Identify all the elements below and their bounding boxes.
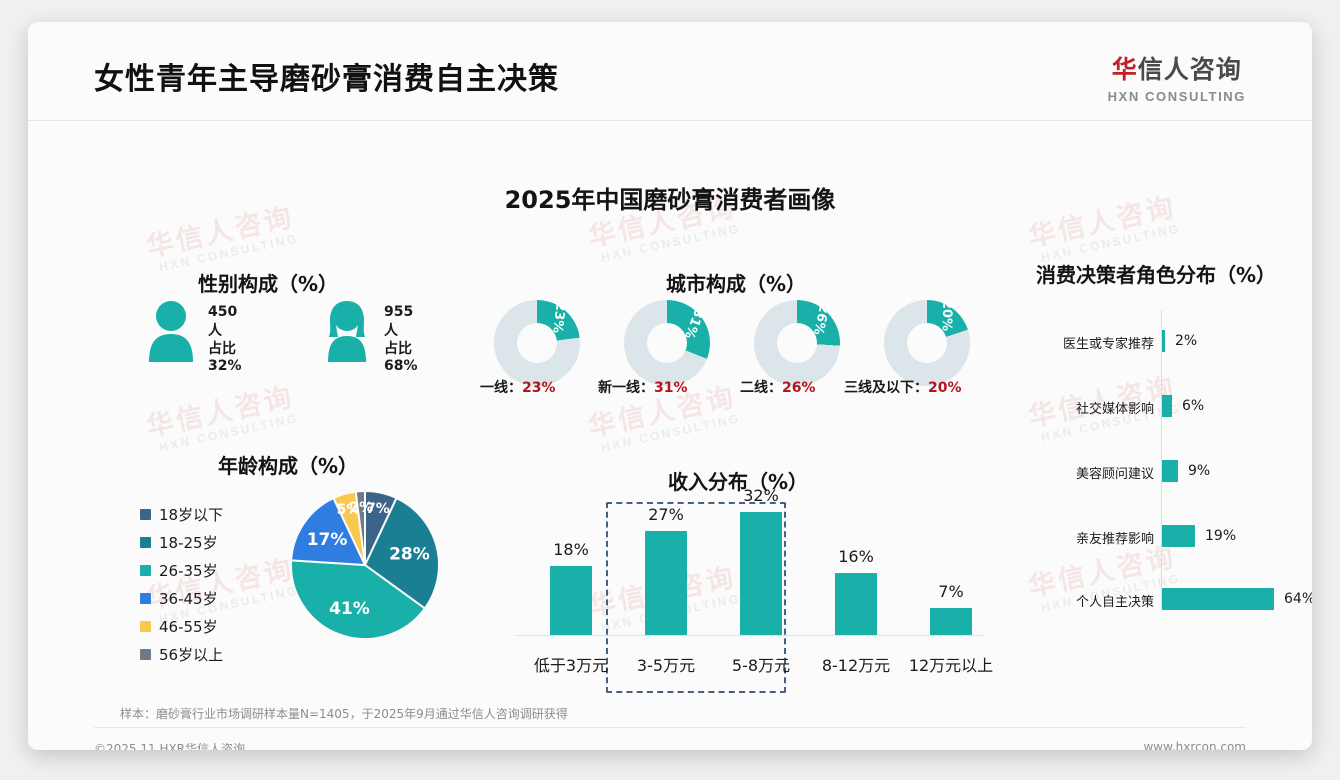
income-bar-category: 5-8万元	[732, 652, 790, 676]
donut-caption-tier2: 二线：26%	[740, 377, 816, 397]
donut-caption-tier3: 三线及以下：20%	[844, 377, 962, 397]
chart-subtitle: 2025年中国磨砂膏消费者画像	[28, 180, 1312, 215]
section-title-age: 年龄构成（%）	[218, 450, 358, 479]
donut-chart-newtier1: 31%	[624, 300, 710, 386]
role-label: 医生或专家推荐	[1034, 333, 1154, 352]
sample-note: 样本：磨砂膏行业市场调研样本量N=1405，于2025年9月通过华信人咨询调研获…	[120, 705, 568, 722]
income-bar-category: 8-12万元	[822, 652, 890, 676]
role-bar	[1162, 395, 1172, 417]
role-label: 个人自主决策	[1034, 591, 1154, 610]
legend-item: 46-55岁	[140, 612, 223, 640]
donut-caption-value: 23%	[522, 380, 556, 396]
roles-axis-line	[1161, 310, 1162, 608]
logo-cn-rest: 信人咨询	[1138, 55, 1242, 84]
footer-website: www.hxrcon.com	[1143, 740, 1246, 750]
income-bar-value: 27%	[626, 505, 706, 524]
legend-label: 26-35岁	[159, 560, 218, 581]
donut-caption-newtier1: 新一线：31%	[598, 377, 688, 397]
legend-swatch	[140, 649, 151, 660]
legend-swatch	[140, 537, 151, 548]
legend-item: 18-25岁	[140, 528, 223, 556]
watermark-en: HXN CONSULTING	[1040, 221, 1182, 264]
female-icon	[322, 300, 372, 362]
role-bar	[1162, 460, 1178, 482]
role-value: 64%	[1284, 591, 1312, 607]
legend-label: 18岁以下	[159, 504, 223, 525]
gender-count-male: 450人	[208, 304, 237, 340]
role-label: 社交媒体影响	[1034, 398, 1154, 417]
logo-cn-accent: 华	[1112, 55, 1138, 84]
section-title-city: 城市构成（%）	[666, 268, 806, 297]
income-bar-category: 3-5万元	[637, 652, 695, 676]
income-baseline	[515, 635, 985, 636]
legend-label: 36-45岁	[159, 588, 218, 609]
watermark: 华信人咨询 HXN CONSULTING	[142, 375, 299, 456]
legend-label: 56岁以上	[159, 644, 223, 665]
income-bar-category: 低于3万元	[534, 652, 608, 676]
watermark-en: HXN CONSULTING	[600, 411, 742, 454]
pie-slice-label: 2%	[349, 500, 373, 516]
income-bar	[835, 573, 877, 635]
income-bar-chart	[515, 500, 985, 635]
income-bar-value: 18%	[531, 540, 611, 559]
legend-swatch	[140, 593, 151, 604]
watermark-cn: 华信人咨询	[142, 375, 297, 444]
donut-caption-label: 新一线：	[598, 380, 654, 396]
role-value: 9%	[1188, 463, 1210, 479]
income-bar	[645, 531, 687, 635]
donut-chart-tier3: 20%	[884, 300, 970, 386]
logo-en: HXN CONSULTING	[1108, 89, 1246, 104]
role-value: 6%	[1182, 398, 1204, 414]
legend-swatch	[140, 621, 151, 632]
income-bar-value: 32%	[721, 486, 801, 505]
income-bar-value: 7%	[911, 582, 991, 601]
footer-divider	[94, 727, 1246, 728]
legend-item: 36-45岁	[140, 584, 223, 612]
slide-page: 华信人咨询 HXN CONSULTING 华信人咨询 HXN CONSULTIN…	[28, 22, 1312, 750]
role-label: 美容顾问建议	[1034, 463, 1154, 482]
legend-item: 56岁以上	[140, 640, 223, 668]
donut-caption-tier1: 一线：23%	[480, 377, 556, 397]
legend-label: 18-25岁	[159, 532, 218, 553]
gender-share-female: 占比68%	[384, 338, 418, 374]
income-bar	[550, 566, 592, 635]
income-bar-value: 16%	[816, 547, 896, 566]
watermark-en: HXN CONSULTING	[600, 221, 742, 264]
donut-caption-value: 20%	[928, 380, 962, 396]
legend-item: 18岁以下	[140, 500, 223, 528]
section-title-gender: 性别构成（%）	[198, 268, 338, 297]
logo-cn: 华信人咨询	[1108, 50, 1246, 86]
watermark-en: HXN CONSULTING	[158, 411, 300, 454]
donut-caption-value: 31%	[654, 380, 688, 396]
pie-slice-label: 28%	[389, 545, 430, 565]
pie-slice-label: 41%	[329, 599, 370, 619]
legend-swatch	[140, 565, 151, 576]
donut-caption-label: 一线：	[480, 380, 522, 396]
age-pie-chart: 7%28%41%17%5%2%	[289, 489, 441, 641]
role-value: 19%	[1205, 528, 1236, 544]
gender-share-male: 占比32%	[208, 338, 242, 374]
role-bar	[1162, 330, 1165, 352]
page-title: 女性青年主导磨砂膏消费自主决策	[94, 54, 559, 98]
role-bar	[1162, 525, 1195, 547]
legend-label: 46-55岁	[159, 616, 218, 637]
male-icon	[146, 300, 196, 362]
donut-chart-tier1: 23%	[494, 300, 580, 386]
gender-count-female: 955人	[384, 304, 413, 340]
legend-item: 26-35岁	[140, 556, 223, 584]
section-title-roles: 消费决策者角色分布（%）	[1036, 259, 1276, 288]
pie-slice-label: 17%	[307, 530, 348, 550]
role-label: 亲友推荐影响	[1034, 528, 1154, 547]
donut-caption-value: 26%	[782, 380, 816, 396]
role-bar	[1162, 588, 1274, 610]
age-legend: 18岁以下 18-25岁 26-35岁 36-45岁 46-55岁 56岁以上	[140, 500, 223, 668]
income-bar	[930, 608, 972, 635]
income-bar	[740, 512, 782, 635]
donut-caption-label: 三线及以下：	[844, 380, 928, 396]
donut-value-label: 20%	[939, 300, 955, 331]
donut-caption-label: 二线：	[740, 380, 782, 396]
brand-logo: 华信人咨询 HXN CONSULTING	[1108, 50, 1246, 104]
donut-chart-tier2: 26%	[754, 300, 840, 386]
footer-copyright: ©2025.11 HXR华信人咨询	[94, 740, 245, 750]
income-bar-category: 12万元以上	[909, 652, 993, 676]
role-value: 2%	[1175, 333, 1197, 349]
donut-hole	[647, 323, 687, 363]
legend-swatch	[140, 509, 151, 520]
